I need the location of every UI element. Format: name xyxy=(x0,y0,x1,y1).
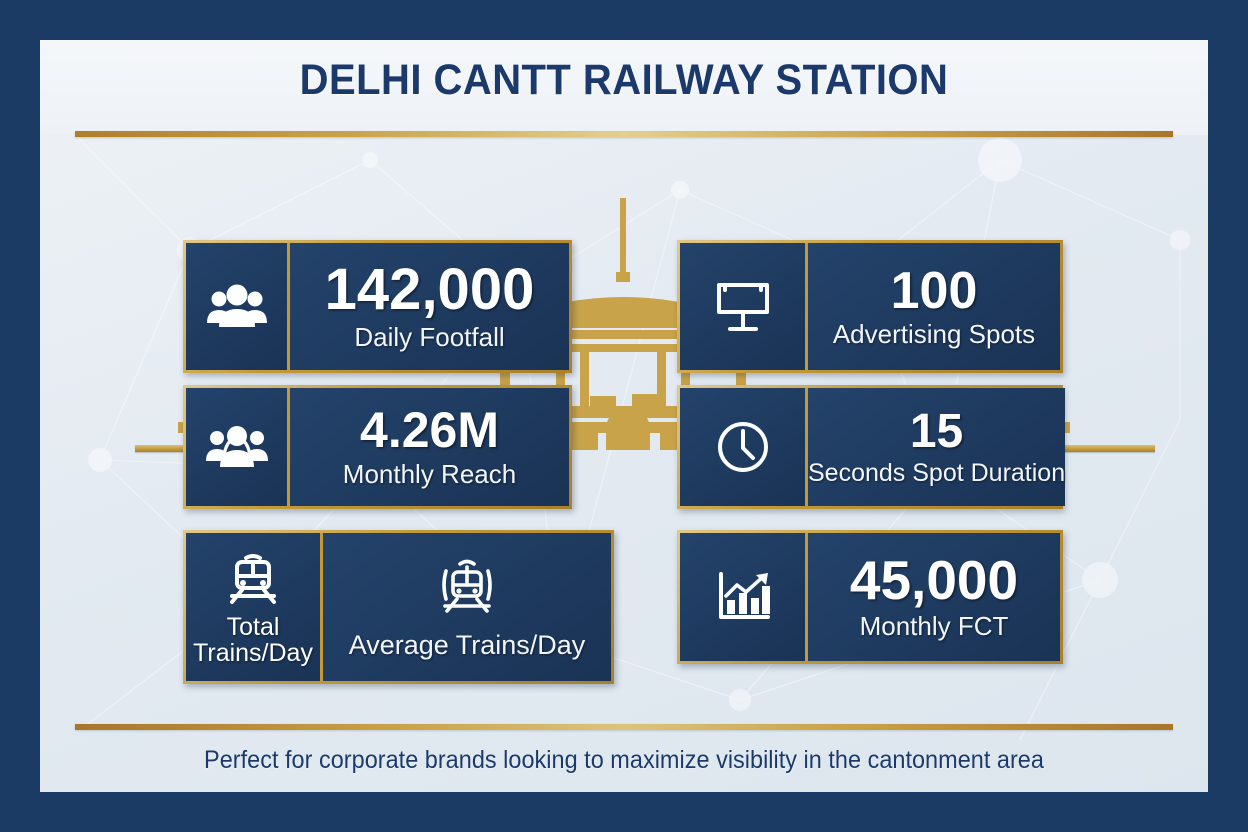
people-group-icon xyxy=(205,283,269,331)
stat-value: 100 xyxy=(891,265,978,317)
page-title: DELHI CANTT RAILWAY STATION xyxy=(81,56,1167,105)
poster-inner-panel: 142,000 Daily Footfall xyxy=(40,40,1208,792)
stat-label: Advertising Spots xyxy=(833,320,1035,348)
stat-label: Seconds Spot Duration xyxy=(808,460,1065,487)
stat-label: Average Trains/Day xyxy=(349,631,586,660)
stat-card-monthly-reach[interactable]: 4.26M Monthly Reach xyxy=(183,385,572,509)
value-panel: Average Trains/Day xyxy=(323,533,611,681)
stat-card-spot-duration[interactable]: 15 Seconds Spot Duration xyxy=(677,385,1063,509)
stat-card-advertising-spots[interactable]: 100 Advertising Spots xyxy=(677,240,1063,373)
value-panel: 142,000 Daily Footfall xyxy=(290,243,569,370)
stat-label: Monthly Reach xyxy=(343,460,516,488)
icon-panel: Total Trains/Day xyxy=(186,533,323,681)
billboard-icon xyxy=(710,277,776,337)
value-panel: 45,000 Monthly FCT xyxy=(808,533,1060,661)
bar-chart-growth-icon xyxy=(710,567,776,627)
value-panel: 4.26M Monthly Reach xyxy=(290,388,569,506)
icon-panel-label: Total Trains/Day xyxy=(193,614,313,667)
icon-panel xyxy=(186,388,290,506)
people-reach-icon xyxy=(204,423,270,471)
icon-panel xyxy=(186,243,290,370)
icon-panel xyxy=(680,243,808,370)
infographic-poster: 142,000 Daily Footfall xyxy=(0,0,1248,832)
footer-gold-divider xyxy=(75,724,1173,730)
footer-tagline: Perfect for corporate brands looking to … xyxy=(75,746,1173,775)
header-gold-divider xyxy=(75,131,1173,137)
train-side-icon xyxy=(434,557,500,619)
stat-value: 142,000 xyxy=(325,261,535,319)
icon-panel xyxy=(680,388,808,506)
clock-icon xyxy=(711,415,775,479)
stat-value: 15 xyxy=(910,408,963,456)
train-front-icon xyxy=(224,550,282,608)
stat-label: Daily Footfall xyxy=(354,323,504,351)
stat-value: 45,000 xyxy=(850,553,1018,608)
value-panel: 100 Advertising Spots xyxy=(808,243,1060,370)
stat-card-daily-footfall[interactable]: 142,000 Daily Footfall xyxy=(183,240,572,373)
stat-label: Monthly FCT xyxy=(860,612,1009,640)
icon-panel xyxy=(680,533,808,661)
stat-value: 4.26M xyxy=(360,405,499,455)
stat-card-monthly-fct[interactable]: 45,000 Monthly FCT xyxy=(677,530,1063,664)
value-panel: 15 Seconds Spot Duration xyxy=(808,388,1065,506)
stat-card-trains-per-day[interactable]: Total Trains/Day xyxy=(183,530,614,684)
